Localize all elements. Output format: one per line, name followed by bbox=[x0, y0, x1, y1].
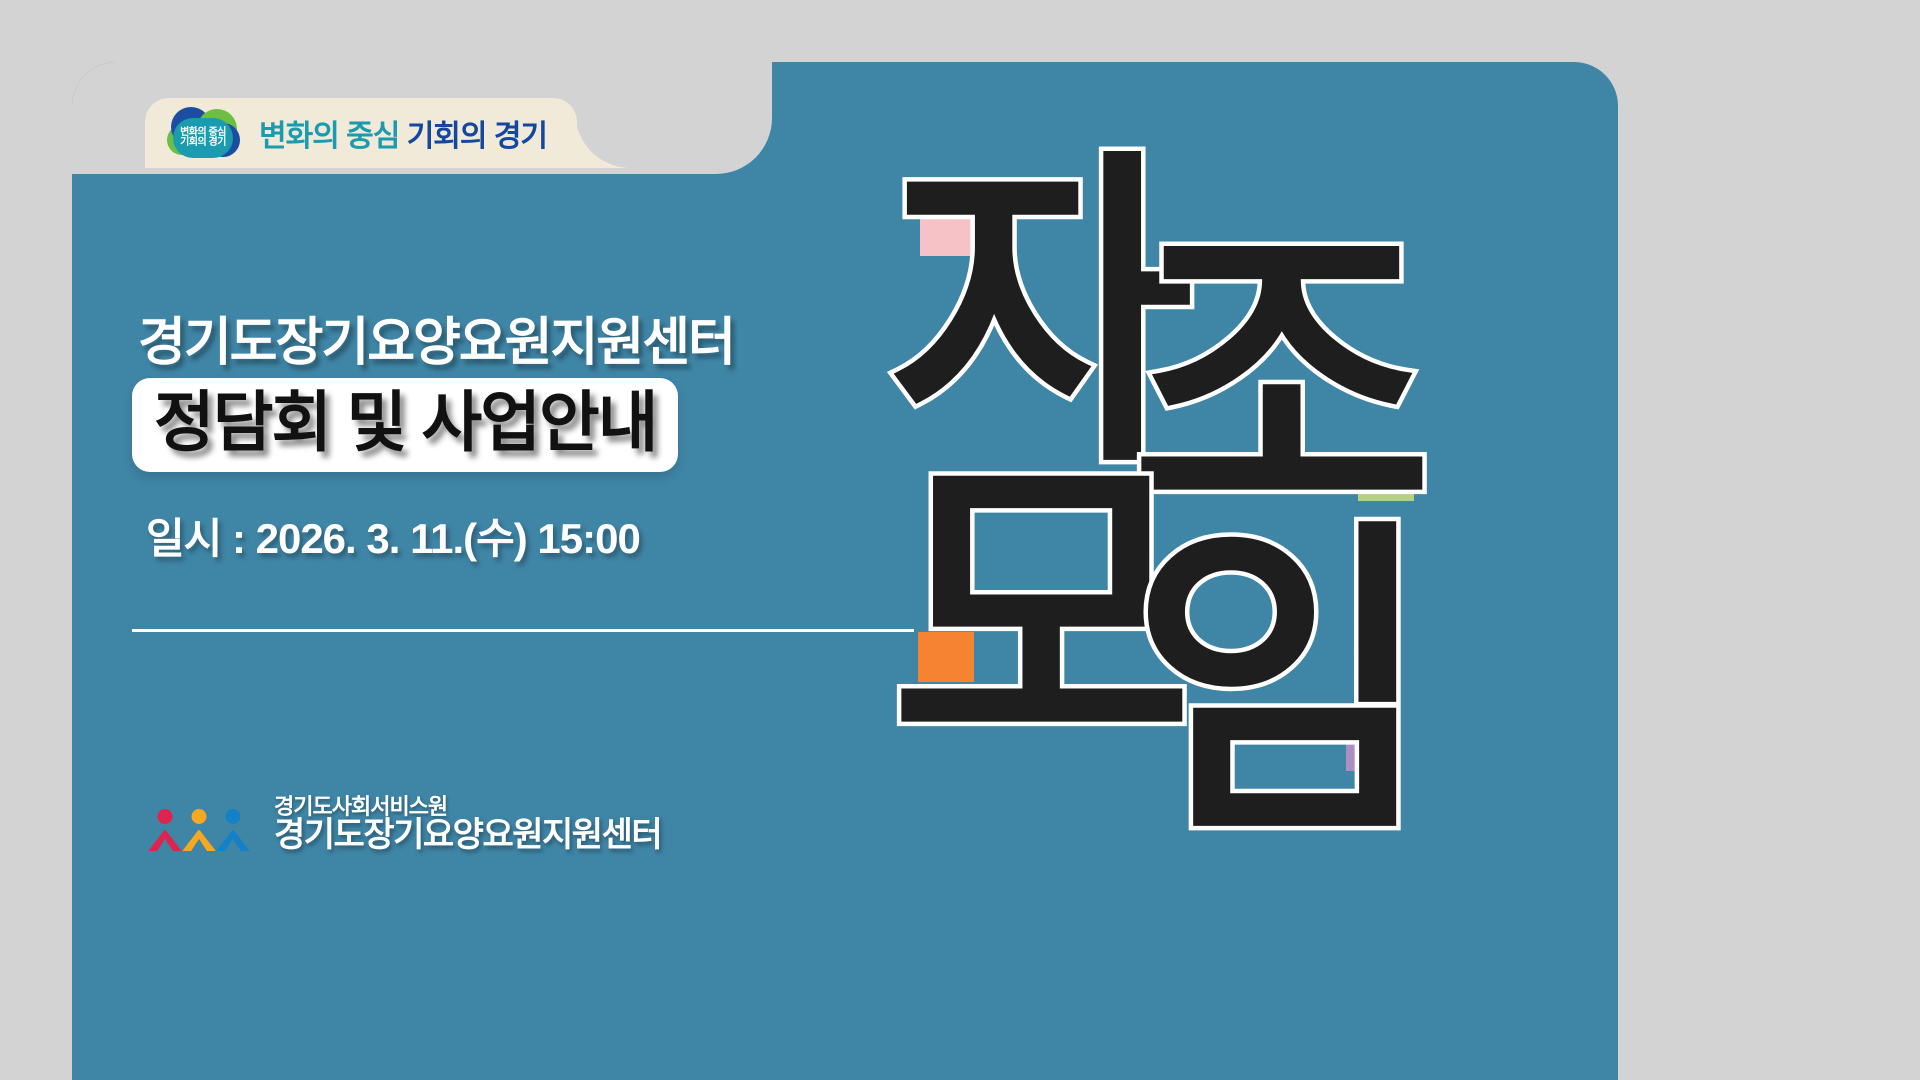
emblem-text-line2: 기회의 경기 bbox=[180, 138, 226, 149]
organization-name: 경기도장기요양요원지원센터 bbox=[138, 300, 734, 375]
footer-text-block: 경기도사회서비스원 경기도장기요양요원지원센터 bbox=[274, 795, 661, 854]
footer-parent-org: 경기도사회서비스원 bbox=[274, 795, 661, 818]
emblem-teal-core: 변화의 중심 기회의 경기 bbox=[173, 118, 233, 158]
footer-center-name: 경기도장기요양요원지원센터 bbox=[274, 818, 661, 854]
person-icon-blue bbox=[216, 809, 250, 851]
person-head-red bbox=[158, 809, 173, 824]
footer-logo-block: 경기도사회서비스원 경기도장기요양요원지원센터 bbox=[148, 795, 661, 854]
person-body-orange bbox=[182, 825, 216, 851]
person-icon-orange bbox=[182, 809, 216, 851]
event-title-pill: 정담회 및 사업안내 bbox=[132, 378, 678, 472]
person-body-blue bbox=[216, 825, 250, 851]
person-body-red bbox=[148, 825, 182, 851]
gyeonggi-brand-tab: 변화의 중심 기회의 경기 변화의 중심 기회의 경기 bbox=[145, 98, 577, 168]
poster-root: 변화의 중심 기회의 경기 변화의 중심 기회의 경기 경기도장기요양요원지원센… bbox=[0, 0, 1920, 1080]
horizontal-divider bbox=[132, 629, 914, 632]
three-people-icon bbox=[148, 797, 256, 851]
event-title: 정담회 및 사업안내 bbox=[154, 386, 656, 460]
gyeonggi-emblem-icon: 변화의 중심 기회의 경기 bbox=[167, 107, 239, 159]
person-head-orange bbox=[192, 809, 207, 824]
brand-slogan-part1: 변화의 중심 bbox=[259, 120, 399, 153]
brand-slogan: 변화의 중심 기회의 경기 bbox=[259, 111, 547, 155]
event-datetime: 일시 : 2026. 3. 11.(수) 15:00 bbox=[146, 505, 640, 566]
display-char-im: 임 bbox=[1130, 520, 1434, 850]
display-headline: 자 조 모 임 bbox=[880, 150, 1440, 810]
brand-slogan-part2: 기회의 경기 bbox=[407, 120, 547, 153]
person-head-blue bbox=[226, 809, 241, 824]
person-icon-red bbox=[148, 809, 182, 851]
